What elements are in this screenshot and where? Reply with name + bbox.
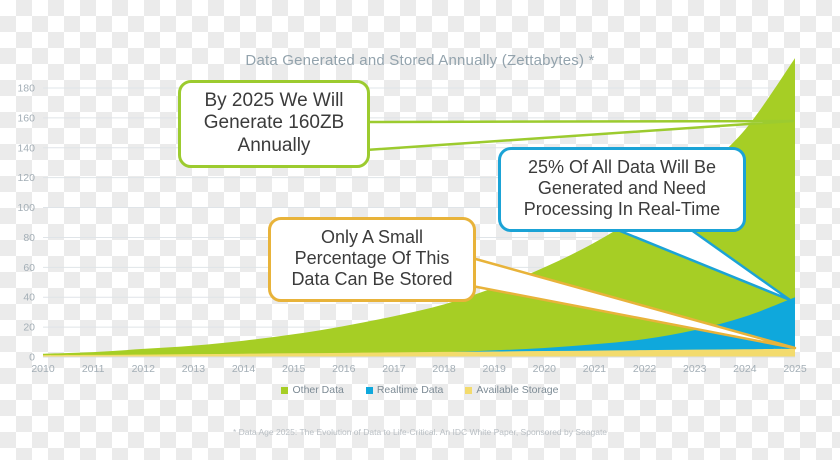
callout-realtime-line3: Processing In Real-Time (511, 199, 733, 220)
callout-storage-line2: Percentage Of This (281, 248, 463, 269)
x-tick-label: 2018 (432, 363, 456, 375)
chart-footnote: * Data Age 2025: The Evolution of Data t… (0, 427, 840, 437)
y-tick-label: 60 (23, 262, 35, 274)
legend-item[interactable]: Available Storage (465, 384, 558, 396)
x-tick-label: 2014 (232, 363, 256, 375)
x-tick-label: 2024 (733, 363, 757, 375)
x-tick-label: 2010 (31, 363, 55, 375)
x-tick-label: 2023 (683, 363, 707, 375)
x-tick-label: 2020 (533, 363, 557, 375)
y-tick-label: 120 (17, 172, 35, 184)
x-tick-label: 2011 (82, 363, 105, 375)
legend-swatch-icon (366, 387, 373, 394)
x-tick-label: 2019 (483, 363, 507, 375)
legend-item[interactable]: Other Data (281, 384, 343, 396)
chart-canvas: Data Generated and Stored Annually (Zett… (0, 0, 840, 460)
callout-generate-line3: Annually (191, 135, 357, 157)
y-tick-label: 100 (17, 202, 35, 214)
y-tick-label: 0 (29, 352, 35, 364)
callout-generate-line2: Generate 160ZB (191, 112, 357, 134)
callout-realtime-25-percent: 25% Of All Data Will Be Generated and Ne… (498, 147, 746, 232)
legend-item[interactable]: Realtime Data (366, 384, 444, 396)
x-tick-label: 2021 (583, 363, 607, 375)
callout-storage-line1: Only A Small (281, 227, 463, 248)
legend-swatch-icon (465, 387, 472, 394)
legend-label: Realtime Data (377, 384, 444, 396)
y-tick-label: 80 (23, 232, 35, 244)
legend-swatch-icon (281, 387, 288, 394)
chart-legend: Other DataRealtime DataAvailable Storage (0, 384, 840, 396)
legend-label: Available Storage (476, 384, 558, 396)
x-tick-label: 2012 (132, 363, 156, 375)
x-tick-label: 2016 (332, 363, 356, 375)
y-tick-label: 180 (17, 83, 35, 95)
y-tick-label: 40 (23, 292, 35, 304)
y-tick-label: 20 (23, 322, 35, 334)
x-tick-label: 2025 (783, 363, 807, 375)
callout-generate-160zb: By 2025 We Will Generate 160ZB Annually (178, 80, 370, 168)
callout-storage-line3: Data Can Be Stored (281, 269, 463, 290)
y-tick-label: 160 (17, 112, 35, 124)
callout-realtime-line2: Generated and Need (511, 178, 733, 199)
legend-label: Other Data (292, 384, 343, 396)
x-tick-label: 2015 (282, 363, 306, 375)
callout-storage-small-percentage: Only A Small Percentage Of This Data Can… (268, 217, 476, 302)
x-tick-label: 2022 (633, 363, 657, 375)
x-axis-tick-labels: 2010201120122013201420152016201720182019… (31, 363, 807, 375)
x-tick-label: 2017 (382, 363, 406, 375)
callout-realtime-line1: 25% Of All Data Will Be (511, 157, 733, 178)
callout-generate-line1: By 2025 We Will (191, 90, 357, 112)
y-axis-tick-labels: 020406080100120140160180 (17, 83, 35, 364)
y-tick-label: 140 (17, 142, 35, 154)
callout-pointer (366, 121, 793, 150)
x-tick-label: 2013 (182, 363, 206, 375)
